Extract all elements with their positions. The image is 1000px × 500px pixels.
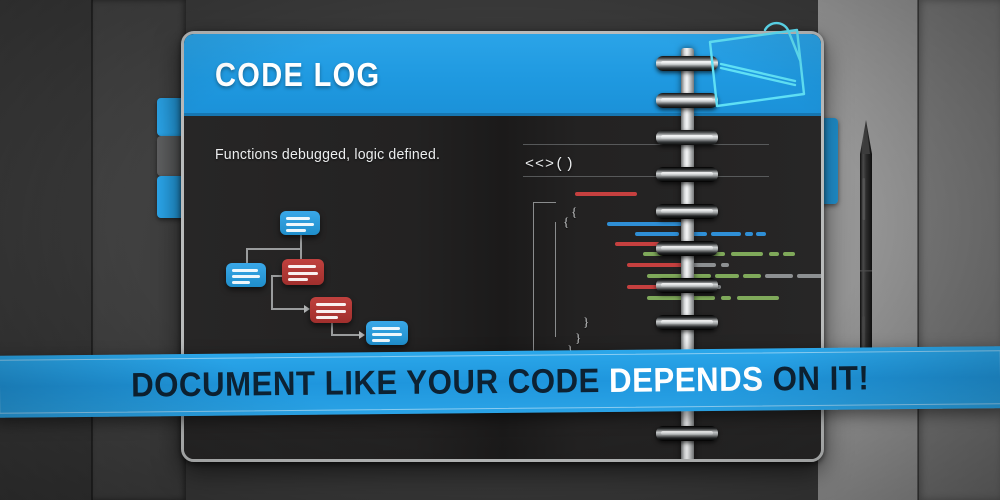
code-line [731,252,763,256]
code-line [737,296,779,300]
flow-node-blue[interactable] [366,321,408,345]
code-brace: } [575,330,581,346]
spiral-ring [656,426,718,441]
code-line [627,263,685,267]
code-line [797,274,824,278]
page-title: CODE LOG [215,56,380,94]
panel-seam-right [917,0,919,500]
spiral-ring [656,204,718,219]
spiral-ring [656,241,718,256]
flow-connector [246,248,248,264]
code-line [711,232,741,236]
code-line [715,274,739,278]
code-brace: } [583,314,589,330]
flow-connector [271,275,273,310]
flow-node-red[interactable] [282,259,324,285]
background-panel-far-left [0,0,92,500]
code-line [783,252,795,256]
spiral-ring [656,315,718,330]
code-rule-top [523,144,769,145]
flowchart-diagram [224,209,459,359]
code-brace: { [571,204,577,220]
background-panel-far-right [918,0,1000,500]
poster-canvas: CODE LOG Functions debugged, logic defin… [0,0,1000,500]
spiral-ring [656,167,718,182]
page-subtitle: Functions debugged, logic defined. [215,146,440,163]
code-line [623,222,657,226]
code-line [743,274,761,278]
flow-connector [271,308,305,310]
code-line [721,296,731,300]
panel-seam-left [91,0,93,500]
flow-node-blue[interactable] [280,211,320,235]
headline-part-highlight: DEPENDS [609,360,764,399]
code-bracket-rail [555,222,574,337]
flow-connector [246,248,302,250]
stylus-pen [855,120,877,360]
code-visualization: <<>() {{}}}}} [523,144,791,462]
flow-arrow [359,331,365,339]
binder-clip-icon [694,2,824,114]
code-glyph: <<>() [525,156,575,173]
headline-banner: DOCUMENT LIKE YOUR CODE DEPENDS ON IT! [0,346,1000,418]
code-rule-bottom [523,176,769,177]
headline-part-after: ON IT! [763,359,869,398]
code-line [756,232,766,236]
flow-connector [331,334,360,336]
background-panel-left-mid [92,0,186,500]
spiral-ring [656,130,718,145]
code-line [765,274,793,278]
flow-node-blue[interactable] [226,263,266,287]
flow-node-red[interactable] [310,297,352,323]
code-line [769,252,779,256]
code-line [721,263,729,267]
flow-connector [300,235,302,249]
spiral-ring [656,278,718,293]
headline-banner-inner: DOCUMENT LIKE YOUR CODE DEPENDS ON IT! [0,350,1000,414]
code-brace: { [563,214,569,230]
code-line [745,232,753,236]
code-line [575,192,637,196]
headline-text: DOCUMENT LIKE YOUR CODE DEPENDS ON IT! [131,359,869,405]
headline-part-before: DOCUMENT LIKE YOUR CODE [131,361,609,404]
code-line [635,232,679,236]
